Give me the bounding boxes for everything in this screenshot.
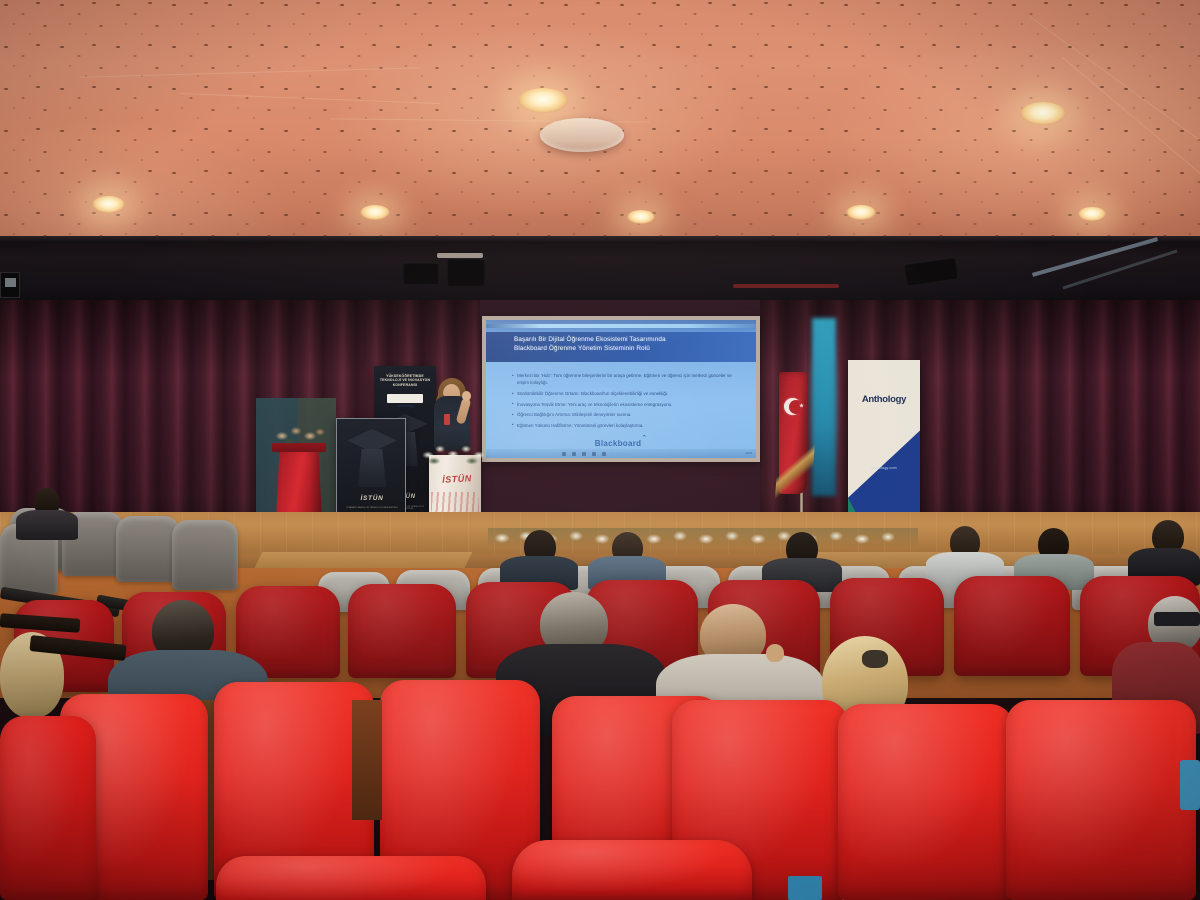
taskbar-icon[interactable] <box>582 452 586 456</box>
ceiling-downlight <box>1078 207 1106 221</box>
hair-tie-icon <box>862 650 888 668</box>
taskbar-icon[interactable] <box>592 452 596 456</box>
banner-left-sponsor-label: Anthology <box>397 404 414 408</box>
slide-bullet: Sürdürülebilir Öğrenme Ortamı: Blackboar… <box>512 390 738 397</box>
banner-left-title: YÜKSEKÖĞRETİMDE TEKNOLOJİ VE İNOVASYON K… <box>379 374 431 387</box>
stage-banner-footer: İSTANBUL SAĞLIK VE TEKNOLOJİ ÜNİVERSİTES… <box>340 507 404 509</box>
ceiling-downlight <box>518 88 568 113</box>
audience-seat-red <box>348 584 456 678</box>
beam-red-stripe <box>733 284 839 288</box>
slide-bullet: İnovasyona Teşvik Etme: Yeni araç ve tek… <box>512 401 738 408</box>
istun-stage-banner: İSTÜN İSTANBUL SAĞLIK VE TEKNOLOJİ ÜNİVE… <box>336 418 406 518</box>
anthology-rollup-banner-right: Anthology anthology.com <box>848 360 920 528</box>
stage-light-fixture <box>403 262 439 284</box>
flag-crescent-icon <box>784 398 801 415</box>
ceiling-downlight <box>92 196 125 213</box>
foreground-seat-red <box>0 716 96 900</box>
side-wall-light <box>0 272 20 298</box>
ceiling-downlight <box>360 205 390 220</box>
projection-screen: Başarılı Bir Dijital Öğrenme Ekosistemi … <box>486 320 756 458</box>
blue-accent-light <box>812 318 836 496</box>
windows-taskbar[interactable]: 14:32 <box>486 449 756 458</box>
ceiling-speaker-disc <box>540 118 624 152</box>
lectern-flower-arrangement <box>420 441 492 467</box>
taskbar-icon[interactable] <box>572 452 576 456</box>
floor-gap <box>352 700 382 820</box>
blackboard-chevron-icon: ⌃ <box>641 434 647 442</box>
seat-cushion <box>512 840 752 900</box>
flag-gold-fringe <box>775 439 815 501</box>
draped-cocktail-table <box>276 448 322 520</box>
ceiling-downlight <box>627 210 655 224</box>
speaker-hand <box>462 391 471 401</box>
auditorium-photo: Başarılı Bir Dijital Öğrenme Ekosistemi … <box>0 0 1200 900</box>
eyeglasses-icon <box>1154 612 1200 626</box>
grey-seat <box>116 516 180 582</box>
booklet <box>788 876 822 900</box>
taskbar-clock: 14:32 <box>746 452 753 455</box>
anthology-url: anthology.com <box>848 466 920 470</box>
slide-title-line-1: Başarılı Bir Dijital Öğrenme Ekosistemi … <box>514 336 756 345</box>
stage-light-fixture <box>447 258 485 286</box>
ceiling-downlight <box>1020 102 1066 125</box>
lectern-org-label: İSTÜN <box>437 473 477 485</box>
table-flower-arrangement <box>272 424 328 446</box>
seat-cushion <box>216 856 486 900</box>
slide-bullet: Merkezi Bir 'Hub': Tüm öğrenme bileşenle… <box>512 372 738 387</box>
stage-banner-org: İSTÜN <box>337 495 407 502</box>
taskbar-icon[interactable] <box>602 452 606 456</box>
slide-bullet: Öğrenci Bağlılığını Artırma: Etkileşimli… <box>512 411 738 418</box>
graduation-cap-base <box>358 449 386 487</box>
slide-title-block: Başarılı Bir Dijital Öğrenme Ekosistemi … <box>486 332 756 362</box>
taskbar-icon[interactable] <box>562 452 566 456</box>
slide-bullet-list: Merkezi Bir 'Hub': Tüm öğrenme bileşenle… <box>512 372 738 432</box>
audience-seat-red <box>954 576 1070 676</box>
blackboard-wordmark: Blackboard <box>595 439 642 448</box>
speaker-lanyard <box>444 414 450 425</box>
foreground-seat-red <box>1006 700 1196 900</box>
anthology-wordmark: Anthology <box>848 394 920 405</box>
stage-lighting-beam <box>0 236 1200 310</box>
banner-left-sponsor-logo: Anthology <box>387 394 423 403</box>
slide-bullet: Eğitmen Yükünü Hafifletme: Yönetimsel gö… <box>512 422 738 429</box>
beam-edge <box>0 236 1200 243</box>
booklet <box>1180 760 1200 810</box>
audience-shoulders <box>16 510 78 540</box>
foreground-seat-red <box>838 704 1014 900</box>
slide-top-accent-bar <box>486 324 756 328</box>
ceiling-downlight <box>846 205 876 220</box>
slide-title-line-2: Blackboard Öğrenme Yönetim Sisteminin Ro… <box>514 345 756 354</box>
grey-seat <box>172 520 238 590</box>
banner-right-blue-shape <box>848 360 920 528</box>
audience-hand <box>766 644 784 662</box>
